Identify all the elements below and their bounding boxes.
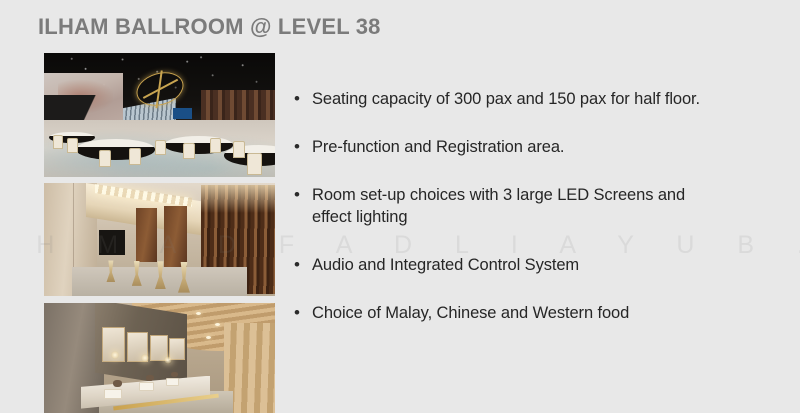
banquet-tables [44, 122, 275, 174]
vase-3 [171, 372, 178, 377]
list-item: • Pre-function and Registration area. [294, 136, 714, 158]
ceiling-spot-3 [206, 336, 211, 339]
pendant-light-2 [141, 354, 149, 362]
list-item: • Room set-up choices with 3 large LED S… [294, 184, 714, 228]
basin-1 [104, 389, 122, 399]
feature-panel-1 [136, 208, 157, 262]
photo-ballroom-banquet-setup [44, 53, 275, 177]
list-item-text: Audio and Integrated Control System [312, 254, 579, 276]
basin-3 [166, 378, 179, 386]
feature-panel-2 [164, 206, 187, 267]
basin-2 [139, 382, 154, 391]
list-item-text: Room set-up choices with 3 large LED Scr… [312, 184, 714, 228]
list-item-text: Pre-function and Registration area. [312, 136, 564, 158]
bullet-list: • Seating capacity of 300 pax and 150 pa… [294, 88, 714, 324]
list-item: • Seating capacity of 300 pax and 150 pa… [294, 88, 714, 110]
ceiling-spot-2 [215, 323, 220, 326]
bullet-dot-icon: • [294, 302, 312, 324]
page-title: ILHAM BALLROOM @ LEVEL 38 [38, 14, 381, 40]
presentation-slide: ILHAM BALLROOM @ LEVEL 38 A H M A D F A … [0, 0, 800, 413]
bullet-dot-icon: • [294, 88, 312, 110]
list-item-text: Seating capacity of 300 pax and 150 pax … [312, 88, 700, 110]
list-item: • Choice of Malay, Chinese and Western f… [294, 302, 714, 324]
photo-pre-function-corridor [44, 183, 275, 296]
list-item: • Audio and Integrated Control System [294, 254, 714, 276]
photo-washroom-vanity [44, 303, 275, 413]
led-screen [173, 108, 191, 119]
bullet-dot-icon: • [294, 254, 312, 276]
photo-column [44, 53, 275, 413]
alcove-opening [99, 230, 124, 255]
pendant-light-3 [164, 356, 172, 364]
vase-1 [113, 380, 122, 387]
bullet-dot-icon: • [294, 184, 312, 206]
vase-2 [146, 375, 154, 381]
bullet-dot-icon: • [294, 136, 312, 158]
list-item-text: Choice of Malay, Chinese and Western foo… [312, 302, 629, 324]
